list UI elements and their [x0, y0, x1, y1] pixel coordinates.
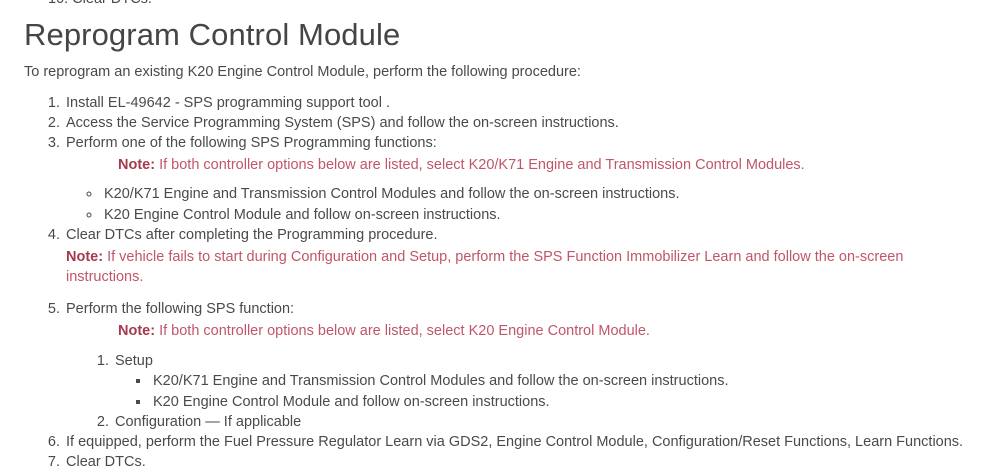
- list-item: K20/K71 Engine and Transmission Control …: [151, 371, 982, 391]
- step-4-note: Note: If vehicle fails to start during C…: [66, 247, 982, 287]
- step-5-text: Perform the following SPS function:: [66, 301, 294, 317]
- step-1: Install EL-49642 - SPS programming suppo…: [64, 93, 982, 113]
- page-title: Reprogram Control Module: [24, 0, 982, 54]
- step-3-options: K20/K71 Engine and Transmission Control …: [66, 184, 982, 225]
- step-5-note-text: If both controller options below are lis…: [159, 323, 650, 339]
- step-4-text: Clear DTCs after completing the Programm…: [66, 227, 438, 243]
- step-5-sub-1-options: K20/K71 Engine and Transmission Control …: [115, 371, 982, 412]
- note-label: Note:: [118, 323, 155, 339]
- step-6: If equipped, perform the Fuel Pressure R…: [64, 432, 982, 452]
- step-7: Clear DTCs.: [64, 452, 982, 472]
- step-5-sub-2: Configuration — If applicable: [113, 412, 982, 432]
- step-5-sub-1: Setup K20/K71 Engine and Transmission Co…: [113, 351, 982, 412]
- step-4-note-text: If vehicle fails to start during Configu…: [66, 249, 903, 285]
- note-label: Note:: [66, 249, 103, 265]
- procedure-step-list: Install EL-49642 - SPS programming suppo…: [24, 93, 982, 472]
- step-3: Perform one of the following SPS Program…: [64, 133, 982, 225]
- step-5-sub-1-option-1-text: K20/K71 Engine and Transmission Control …: [153, 373, 728, 389]
- step-5-sub-2-text: Configuration — If applicable: [115, 414, 301, 430]
- list-item: K20/K71 Engine and Transmission Control …: [102, 184, 982, 204]
- step-3-text: Perform one of the following SPS Program…: [66, 135, 437, 151]
- list-item: K20 Engine Control Module and follow on-…: [102, 205, 982, 225]
- note-label: Note:: [118, 157, 155, 173]
- step-2: Access the Service Programming System (S…: [64, 113, 982, 133]
- step-6-text: If equipped, perform the Fuel Pressure R…: [66, 434, 963, 450]
- intro-paragraph: To reprogram an existing K20 Engine Cont…: [24, 62, 982, 82]
- step-5-sub-1-option-2-text: K20 Engine Control Module and follow on-…: [153, 394, 550, 410]
- step-2-text: Access the Service Programming System (S…: [66, 115, 619, 131]
- list-item: K20 Engine Control Module and follow on-…: [151, 392, 982, 412]
- step-3-note-text: If both controller options below are lis…: [159, 157, 805, 173]
- step-5-note: Note: If both controller options below a…: [66, 321, 982, 341]
- clipped-previous-line: 10. Clear DTCs.: [48, 0, 152, 9]
- step-3-note: Note: If both controller options below a…: [66, 155, 982, 175]
- step-5-sub-1-text: Setup: [115, 353, 153, 369]
- step-5-sub-list: Setup K20/K71 Engine and Transmission Co…: [66, 351, 982, 432]
- step-4: Clear DTCs after completing the Programm…: [64, 225, 982, 287]
- step-1-text: Install EL-49642 - SPS programming suppo…: [66, 95, 390, 111]
- step-3-option-1-text: K20/K71 Engine and Transmission Control …: [104, 186, 679, 202]
- step-5: Perform the following SPS function: Note…: [64, 299, 982, 432]
- step-3-option-2-text: K20 Engine Control Module and follow on-…: [104, 207, 501, 223]
- document-page: 10. Clear DTCs. Reprogram Control Module…: [0, 0, 1006, 474]
- step-7-text: Clear DTCs.: [66, 454, 146, 470]
